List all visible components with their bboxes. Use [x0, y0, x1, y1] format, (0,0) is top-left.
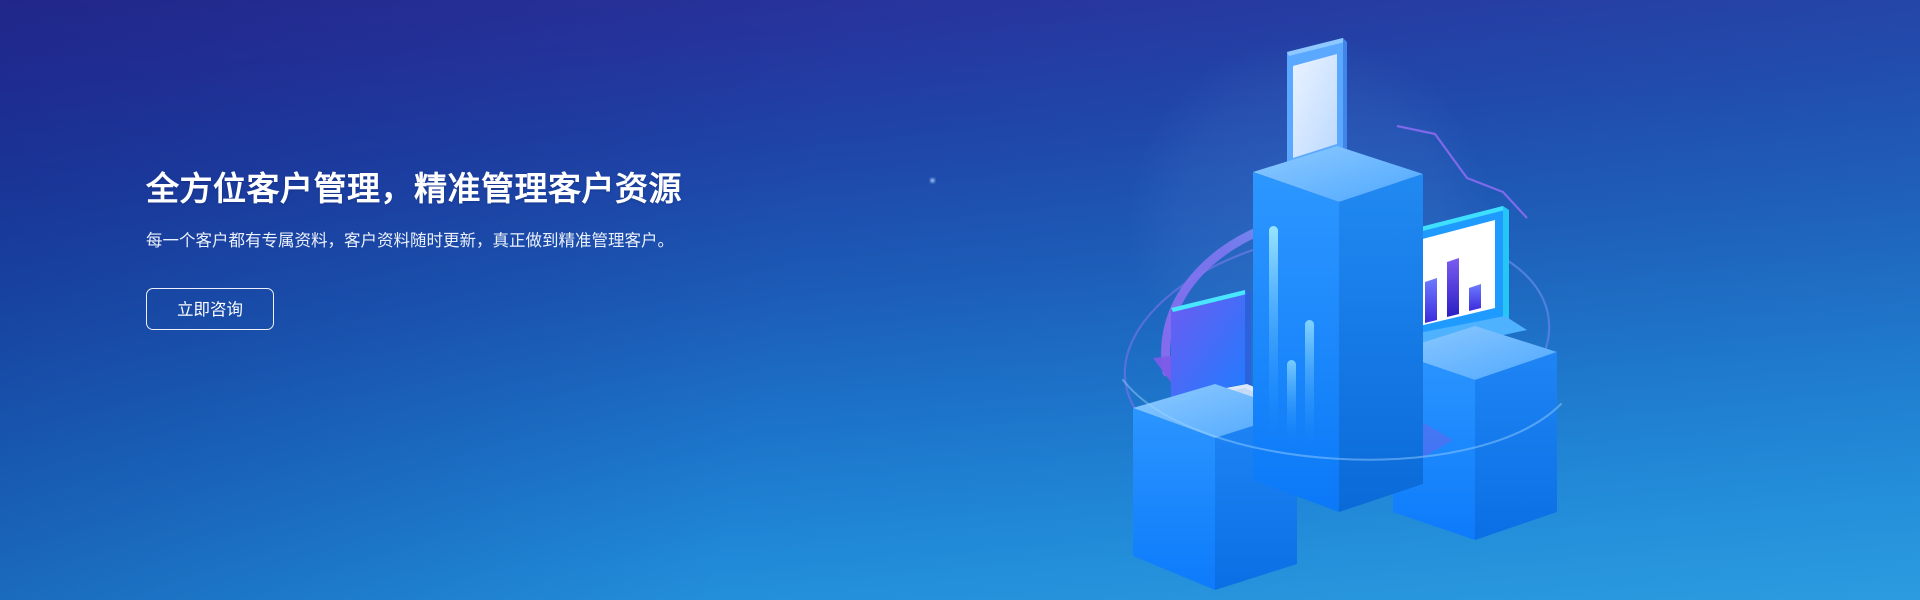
consult-now-button[interactable]: 立即咨询	[146, 288, 274, 330]
center-pillar	[1253, 38, 1423, 512]
hero-banner: 全方位客户管理，精准管理客户资源 每一个客户都有专属资料，客户资料随时更新，真正…	[0, 0, 1920, 600]
hero-subcopy: 每一个客户都有专属资料，客户资料随时更新，真正做到精准管理客户。	[146, 229, 741, 255]
page-title: 全方位客户管理，精准管理客户资源	[146, 168, 786, 209]
hero-copy-block: 全方位客户管理，精准管理客户资源 每一个客户都有专属资料，客户资料随时更新，真正…	[146, 168, 786, 330]
sparkle-dot	[929, 177, 936, 184]
hero-illustration	[1075, 20, 1595, 580]
